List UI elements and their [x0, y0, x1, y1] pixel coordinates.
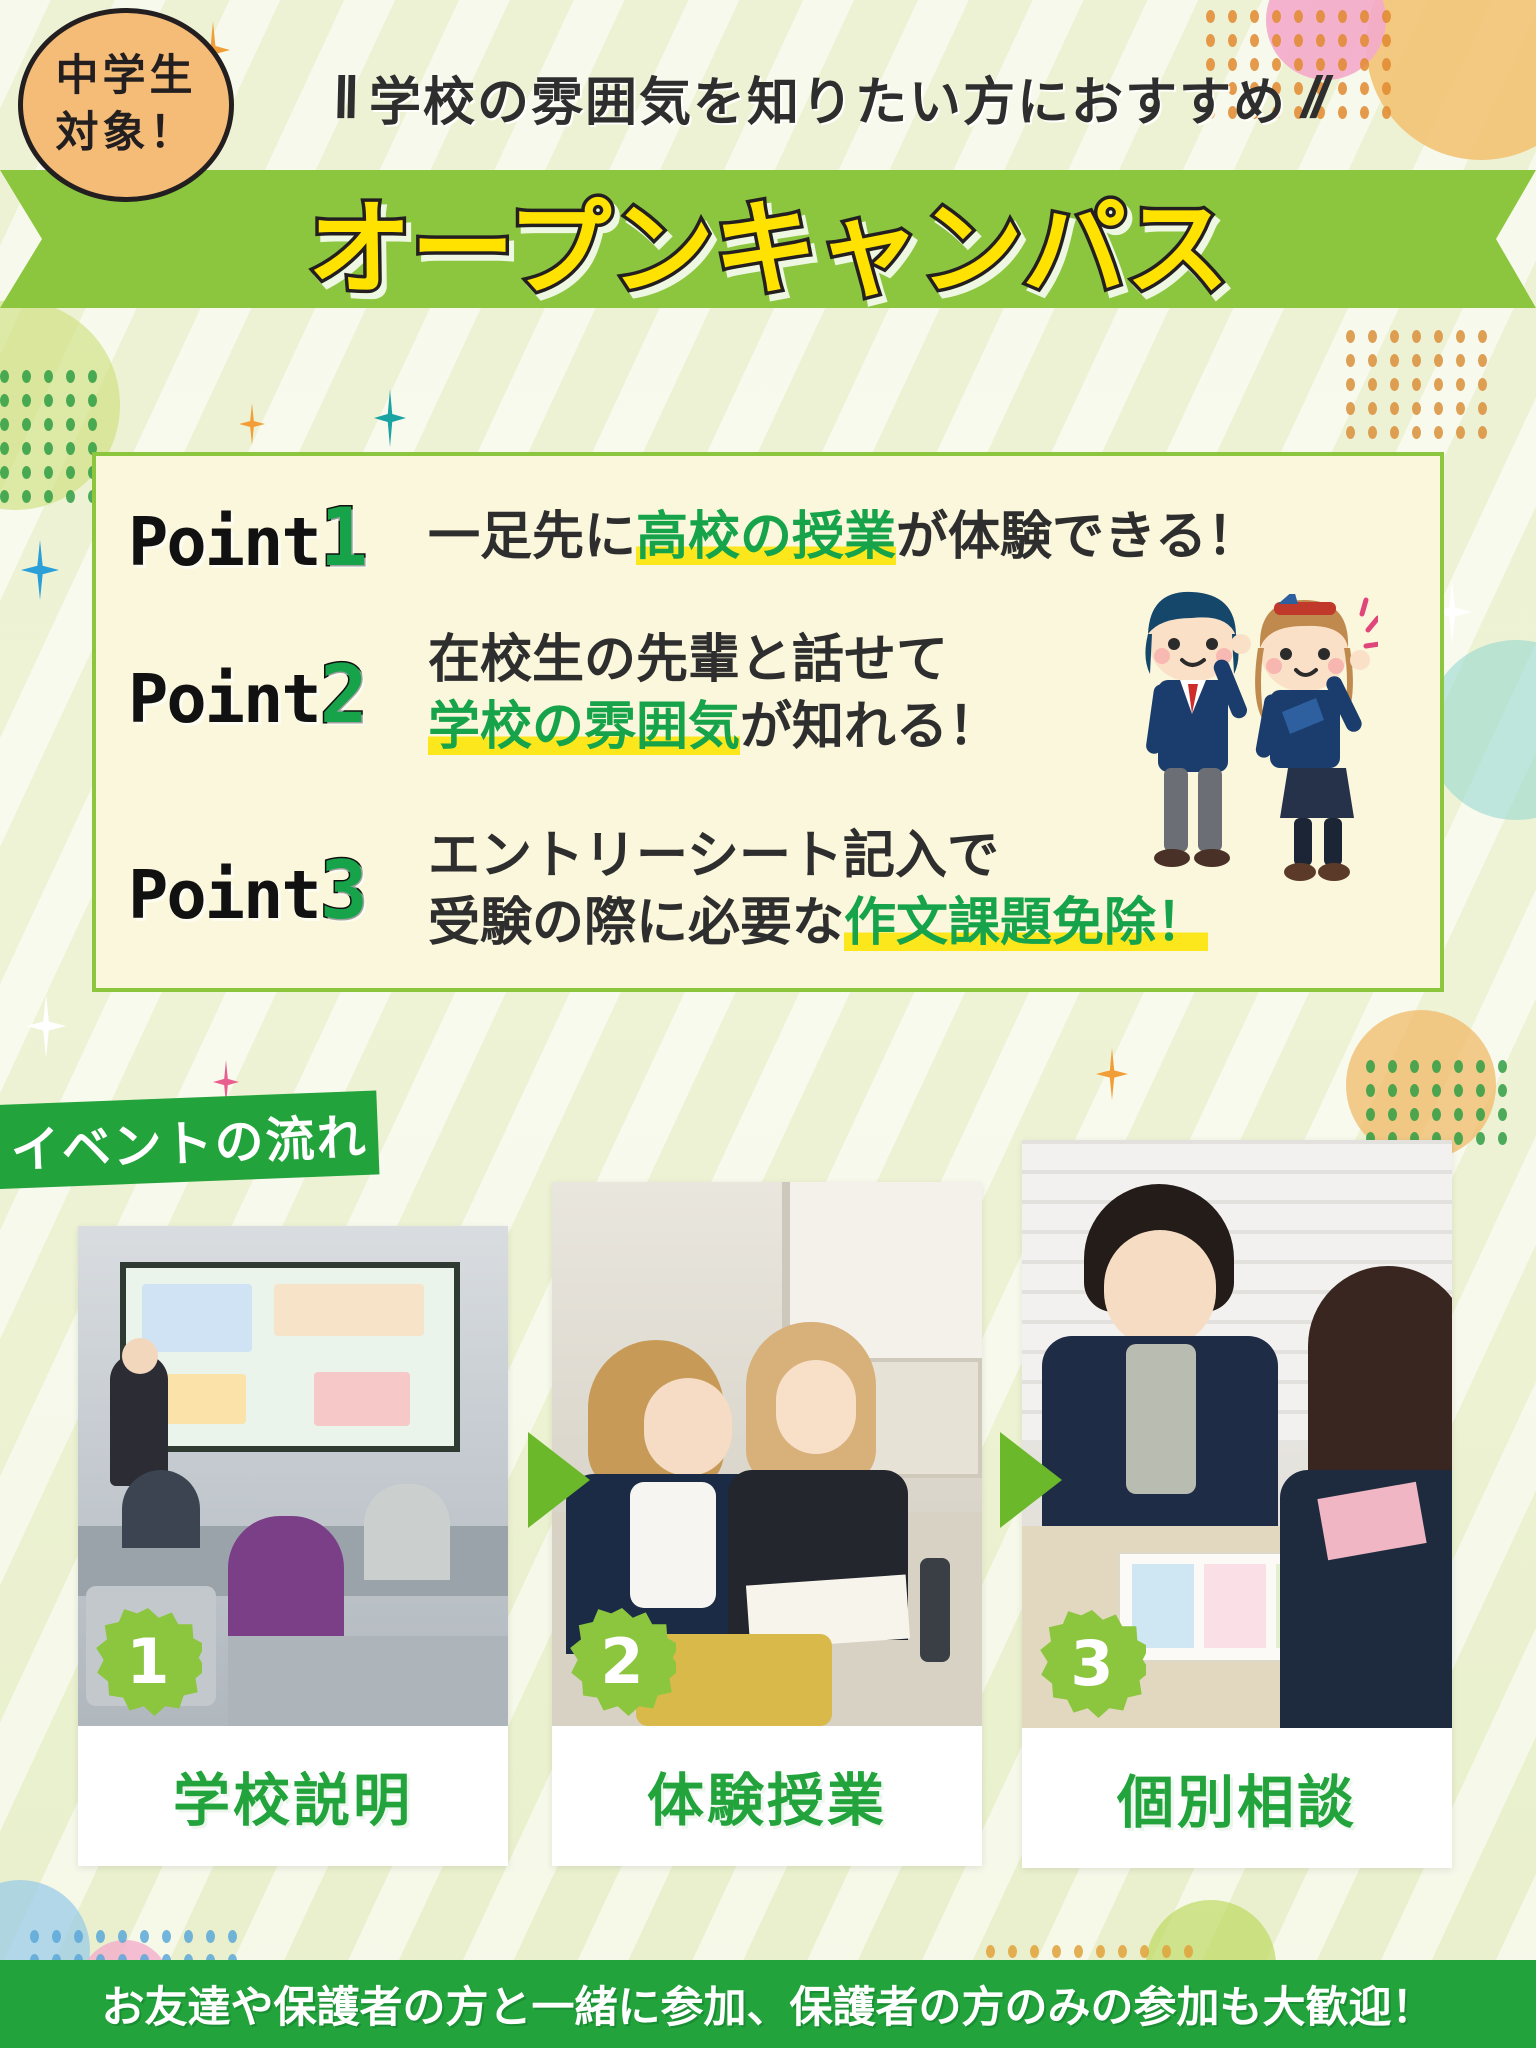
flow-caption-2: 体験授業	[552, 1726, 982, 1866]
photo1-student-c	[364, 1484, 450, 1580]
flow-photo-3: 3	[1022, 1140, 1452, 1728]
point-text-highlight: 作文課題免除！	[844, 893, 1208, 953]
flow-badge-number-3: 3	[1070, 1633, 1113, 1695]
flow-card-3: 3 個別相談	[1022, 1140, 1452, 1868]
point-label-text-3: Point	[128, 856, 320, 934]
flow-caption-text-3: 個別相談	[1117, 1757, 1357, 1839]
photo2-bottle	[920, 1558, 950, 1662]
flow-caption-text-2: 体験授業	[647, 1755, 887, 1837]
target-badge-line1: 中学生	[56, 48, 197, 105]
photo1-table	[228, 1636, 508, 1726]
photo2-student-left-shirt	[630, 1482, 716, 1608]
target-audience-badge: 中学生 対象！	[18, 8, 234, 202]
photo2-student-right-face	[776, 1360, 856, 1454]
photo3-staff-inner	[1126, 1344, 1196, 1494]
photo3-staff-face	[1104, 1230, 1216, 1348]
slash-right-icon: //	[1296, 64, 1330, 131]
point-label-text-1: Point	[128, 503, 320, 581]
event-flow-tag: イベントの流れ	[0, 1090, 379, 1189]
point-label-1: Point1	[128, 491, 428, 584]
point-line: 一足先に高校の授業が体験できる！	[428, 504, 1259, 571]
photo3-brochure-block-a	[1132, 1564, 1194, 1648]
point-text: 一足先に	[428, 507, 636, 567]
flow-caption-text-1: 学校説明	[173, 1755, 413, 1837]
flow-card-1: 1 学校説明	[78, 1226, 508, 1866]
point-text: 受験の際に必要な	[428, 893, 844, 953]
flow-caption-1: 学校説明	[78, 1726, 508, 1866]
point-line: エントリーシート記入で	[428, 823, 1208, 890]
flow-caption-3: 個別相談	[1022, 1728, 1452, 1868]
point-label-3: Point3	[128, 844, 428, 937]
point-text-highlight: 高校の授業	[636, 507, 896, 567]
flow-photo-1: 1	[78, 1226, 508, 1726]
photo1-presenter-head	[122, 1338, 158, 1374]
bottom-banner: お友達や保護者の方と一緒に参加、保護者の方のみの参加も大歓迎！	[0, 1960, 1536, 2048]
photo1-screen-content-a	[142, 1284, 252, 1352]
photo1-screen-content-b	[274, 1284, 424, 1336]
decor-dots-flow-right	[1366, 1060, 1516, 1150]
photo2-student-left-face	[644, 1378, 732, 1476]
point-body-2: 在校生の先輩と話せて 学校の雰囲気が知れる！	[428, 627, 1000, 760]
photo1-screen-content-d	[314, 1372, 410, 1426]
point-row-1: Point1 一足先に高校の授業が体験できる！	[128, 478, 1414, 596]
flow-card-2: 2 体験授業	[552, 1182, 982, 1866]
point-number-3: 3	[320, 844, 366, 937]
headline-text: 学校の雰囲気を知りたい方におすすめ	[369, 60, 1287, 135]
photo3-brochure-block-b	[1204, 1564, 1266, 1648]
photo1-student-a	[122, 1470, 200, 1548]
photo3-visitor-hair	[1308, 1266, 1452, 1496]
point-number-1: 1	[320, 491, 366, 584]
point-number-2: 2	[320, 648, 366, 741]
slash-left-icon: \\	[326, 64, 360, 131]
point-line: 受験の際に必要な作文課題免除！	[428, 890, 1208, 957]
point-text: 在校生の先輩と話せて	[428, 630, 948, 690]
title-ribbon: オープンキャンパス	[0, 170, 1536, 308]
point-label-2: Point2	[128, 648, 428, 741]
point-text: が体験できる！	[896, 507, 1259, 567]
point-text-highlight: 学校の雰囲気	[428, 697, 740, 757]
photo1-student-b	[228, 1516, 344, 1646]
photo1-screen-content-c	[158, 1374, 246, 1424]
event-flow-tag-label: イベントの流れ	[9, 1097, 368, 1182]
mascot-illustration	[1128, 588, 1388, 888]
poster-root: \\ 学校の雰囲気を知りたい方におすすめ // 中学生 対象！ オープンキャンパ…	[0, 0, 1536, 2048]
page-title: オープンキャンパス	[308, 164, 1229, 315]
point-label-text-2: Point	[128, 660, 320, 738]
bottom-banner-text: お友達や保護者の方と一緒に参加、保護者の方のみの参加も大歓迎！	[102, 1973, 1435, 2035]
point-line: 在校生の先輩と話せて	[428, 627, 1000, 694]
decor-dots-upper-right	[1346, 330, 1496, 440]
point-body-3: エントリーシート記入で 受験の際に必要な作文課題免除！	[428, 823, 1208, 956]
flow-photo-2: 2	[552, 1182, 982, 1726]
flow-badge-number-1: 1	[126, 1631, 169, 1693]
flow-badge-number-2: 2	[600, 1631, 643, 1693]
point-text: エントリーシート記入で	[428, 826, 999, 886]
point-text: が知れる！	[740, 697, 1000, 757]
point-line: 学校の雰囲気が知れる！	[428, 694, 1000, 761]
point-body-1: 一足先に高校の授業が体験できる！	[428, 504, 1259, 571]
flow-cards: 1 学校説明	[0, 1140, 1536, 1930]
target-badge-line2: 対象！	[56, 105, 197, 162]
